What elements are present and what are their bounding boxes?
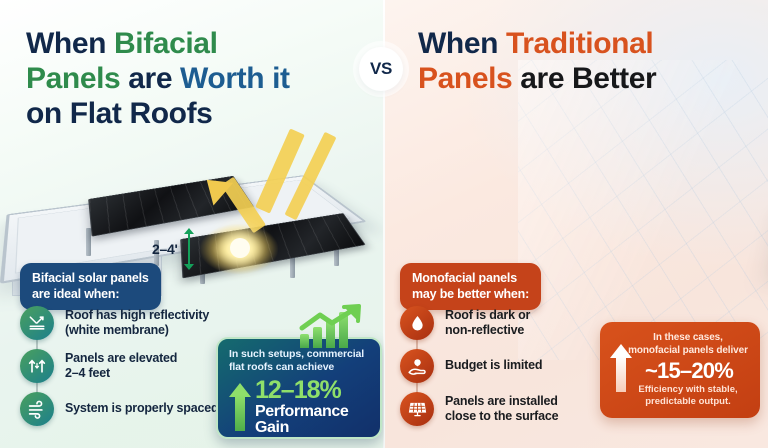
efficiency-value: ~15–20% bbox=[628, 359, 750, 382]
headline-right-traditional: Traditional bbox=[506, 27, 653, 60]
headline-left-line3: on Flat Roofs bbox=[26, 96, 346, 131]
hand-money-icon: $ bbox=[400, 349, 434, 383]
headline-right-panels: Panels bbox=[418, 62, 520, 95]
right-bullet-list: Roof is dark or non-reflective $ Budget … bbox=[400, 306, 605, 435]
infographic-root: 2–4' When Bifacial Panels are Worth it o… bbox=[0, 0, 768, 448]
sun-glare-icon bbox=[200, 224, 278, 274]
solar-panel-icon bbox=[400, 392, 434, 426]
headline-left-are: are bbox=[128, 62, 180, 95]
droplet-icon bbox=[400, 306, 434, 340]
efficiency-subtext: Efficiency with stable, predictable outp… bbox=[626, 384, 750, 408]
left-condition-pill: Bifacial solar panels are ideal when: bbox=[20, 263, 161, 310]
bullet-text: System is properly spaced bbox=[65, 401, 218, 416]
panel-height-measure: 2–4' bbox=[152, 228, 194, 270]
performance-gain-callout: In such setups, commercial flat roofs ca… bbox=[216, 337, 382, 439]
bullet-text: Panels are elevated 2–4 feet bbox=[65, 351, 177, 382]
vs-badge: VS bbox=[359, 47, 403, 91]
right-headline: When Traditional Panels are Better bbox=[418, 26, 758, 96]
list-item: Roof is dark or non-reflective bbox=[400, 306, 605, 340]
list-item: System is properly spaced bbox=[20, 392, 220, 426]
list-item: Panels are elevated 2–4 feet bbox=[20, 349, 220, 383]
double-arrow-icon bbox=[184, 228, 194, 270]
up-arrow-icon bbox=[229, 383, 251, 431]
left-bullet-list: Roof has high reflectivity (white membra… bbox=[20, 306, 220, 435]
stat-caption: In such setups, commercial flat roofs ca… bbox=[229, 348, 370, 375]
right-condition-pill: Monofacial panels may be better when: bbox=[400, 263, 541, 310]
performance-gain-value: 12–18% bbox=[255, 376, 341, 404]
reflectivity-icon bbox=[20, 306, 54, 340]
headline-left-panels: Panels bbox=[26, 62, 128, 95]
measure-label: 2–4' bbox=[152, 241, 178, 257]
elevation-arrows-icon bbox=[20, 349, 54, 383]
svg-text:$: $ bbox=[416, 360, 419, 366]
left-panel-background: 2–4' When Bifacial Panels are Worth it o… bbox=[0, 0, 384, 448]
list-item: Panels are installed close to the surfac… bbox=[400, 392, 605, 426]
headline-left-worth-it: Worth it bbox=[180, 62, 290, 95]
right-pill-text: Monofacial panels may be better when: bbox=[412, 271, 529, 301]
efficiency-callout: In these cases, monofacial panels delive… bbox=[600, 322, 760, 418]
headline-right-when: When bbox=[418, 27, 506, 60]
headline-left-when: When bbox=[26, 27, 114, 60]
list-item: $ Budget is limited bbox=[400, 349, 605, 383]
left-pill-text: Bifacial solar panels are ideal when: bbox=[32, 271, 149, 301]
bullet-text: Budget is limited bbox=[445, 358, 542, 373]
right-panel-background: When Traditional Panels are Better Monof… bbox=[384, 0, 768, 448]
airflow-icon bbox=[20, 392, 54, 426]
stat-caption: In these cases, monofacial panels delive… bbox=[626, 331, 750, 357]
bullet-text: Roof has high reflectivity (white membra… bbox=[65, 308, 209, 339]
headline-left-bifacial: Bifacial bbox=[114, 27, 218, 60]
performance-gain-label: Performance Gain bbox=[255, 404, 348, 437]
up-arrow-icon bbox=[610, 344, 632, 392]
left-headline: When Bifacial Panels are Worth it on Fla… bbox=[26, 26, 346, 131]
growth-chart-icon bbox=[296, 306, 370, 348]
list-item: Roof has high reflectivity (white membra… bbox=[20, 306, 220, 340]
bullet-text: Panels are installed close to the surfac… bbox=[445, 394, 558, 425]
vs-label: VS bbox=[370, 59, 392, 79]
headline-right-are-better: are Better bbox=[520, 62, 656, 95]
bullet-text: Roof is dark or non-reflective bbox=[445, 308, 530, 339]
